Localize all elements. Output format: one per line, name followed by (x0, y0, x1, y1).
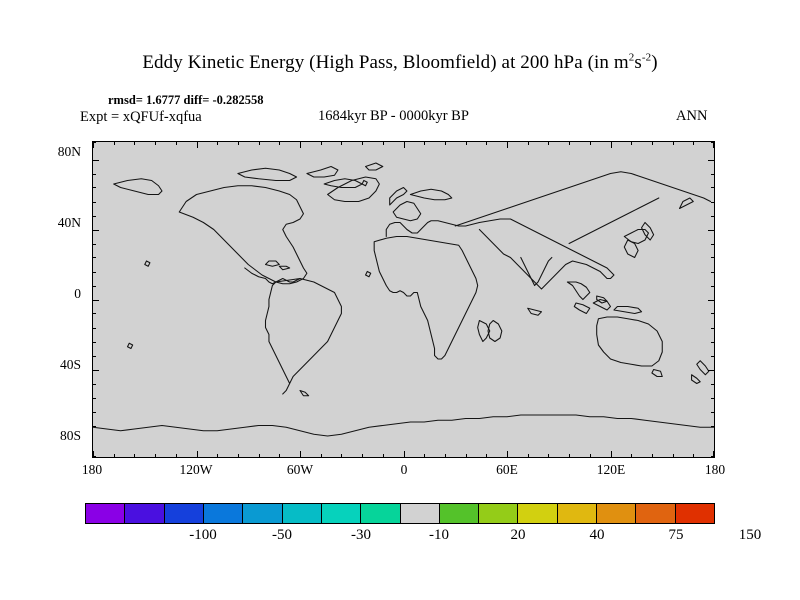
colorbar-cell-15 (676, 504, 714, 523)
colorbar-cell-11 (518, 504, 557, 523)
colorbar-cell-0 (86, 504, 125, 523)
colorbar-label-7: 75 (636, 527, 716, 544)
x-axis-label-180e: 180 (675, 462, 755, 478)
colorbar-label-6: 40 (557, 527, 637, 544)
colorbar-label-1: -100 (163, 527, 243, 544)
colorbar-label-4: -10 (399, 527, 479, 544)
figure-title: Eddy Kinetic Energy (High Pass, Bloomfie… (0, 52, 800, 74)
y-axis-label-40s: 40S (21, 357, 81, 373)
figure-title-mid: s (634, 52, 642, 73)
colorbar-cell-12 (558, 504, 597, 523)
colorbar-cell-6 (322, 504, 361, 523)
colorbar-cell-5 (283, 504, 322, 523)
colorbar-cell-10 (479, 504, 518, 523)
x-axis-label-120e: 120E (571, 462, 651, 478)
figure-title-end: ) (651, 52, 657, 73)
figure-title-superscript-2: -2 (642, 52, 651, 64)
y-axis-label-0: 0 (21, 286, 81, 302)
colorbar-label-8: 150 (710, 527, 790, 544)
colorbar-cell-13 (597, 504, 636, 523)
map-plot-area (92, 141, 715, 458)
colorbar-cell-3 (204, 504, 243, 523)
figure-title-main: Eddy Kinetic Energy (High Pass, Bloomfie… (142, 52, 628, 73)
experiment-label: Expt = xQFUf-xqfua (80, 109, 202, 126)
figure-canvas: Eddy Kinetic Energy (High Pass, Bloomfie… (0, 0, 800, 600)
x-axis-label-0: 0 (364, 462, 444, 478)
y-axis-label-80s: 80S (21, 428, 81, 444)
colorbar-cell-8 (401, 504, 440, 523)
y-axis-label-40n: 40N (21, 215, 81, 231)
colorbar-cell-9 (440, 504, 479, 523)
x-axis-label-60e: 60E (467, 462, 547, 478)
coastline-map (93, 142, 714, 457)
season-label: ANN (676, 108, 707, 125)
colorbar-cell-1 (125, 504, 164, 523)
colorbar (85, 503, 715, 524)
y-axis-label-80n: 80N (21, 144, 81, 160)
colorbar-label-5: 20 (478, 527, 558, 544)
colorbar-cell-2 (165, 504, 204, 523)
rmsd-statistics: rmsd= 1.6777 diff= -0.282558 (108, 93, 264, 108)
colorbar-label-3: -30 (321, 527, 401, 544)
colorbar-cell-14 (636, 504, 675, 523)
colorbar-cell-4 (243, 504, 282, 523)
colorbar-label-2: -50 (242, 527, 322, 544)
x-axis-label-60w: 60W (260, 462, 340, 478)
x-axis-label-120w: 120W (156, 462, 236, 478)
period-label: 1684kyr BP - 0000kyr BP (318, 108, 469, 125)
colorbar-cell-7 (361, 504, 400, 523)
x-axis-label-180w: 180 (52, 462, 132, 478)
